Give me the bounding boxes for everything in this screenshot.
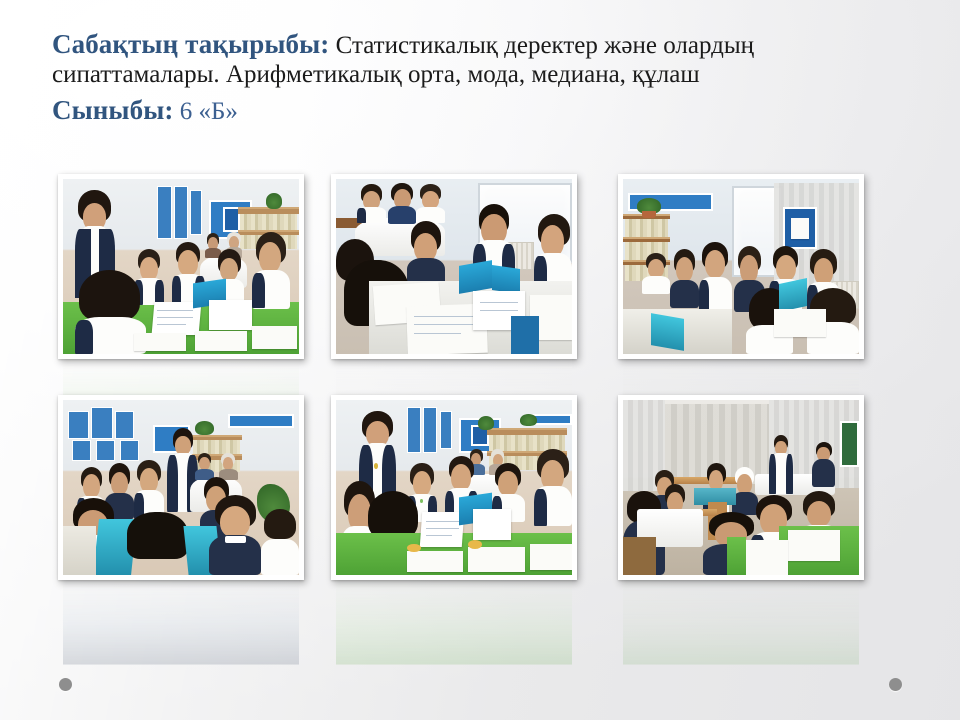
- photo-image-4: [63, 400, 299, 575]
- photo-frame: [58, 174, 304, 359]
- class-line: Сыныбы: 6 «Б»: [52, 94, 932, 128]
- class-value: 6 «Б»: [174, 98, 238, 125]
- photo-reflection: [336, 580, 572, 665]
- photo-image-3: [623, 179, 859, 354]
- gallery-photo-5[interactable]: [331, 395, 577, 580]
- gallery-photo-2[interactable]: [331, 174, 577, 359]
- photo-image-2: [336, 179, 572, 354]
- photo-image-6: [623, 400, 859, 575]
- class-label: Сыныбы:: [52, 95, 174, 125]
- lesson-topic-line: Сабақтың тақырыбы: Статистикалық деректе…: [52, 28, 932, 62]
- lesson-topic-value-part1: Статистикалық деректер және олардың: [329, 32, 754, 59]
- lesson-topic-label: Сабақтың тақырыбы:: [52, 29, 329, 59]
- photo-frame: [618, 395, 864, 580]
- photo-image-1: [63, 179, 299, 354]
- decorative-dot-right: [889, 678, 902, 691]
- photo-reflection: [623, 580, 859, 665]
- decorative-dot-left: [59, 678, 72, 691]
- gallery-photo-4[interactable]: [58, 395, 304, 580]
- photo-gallery-grid: [58, 174, 864, 580]
- gallery-photo-1[interactable]: [58, 174, 304, 359]
- photo-frame: [618, 174, 864, 359]
- gallery-photo-3[interactable]: [618, 174, 864, 359]
- photo-frame: [331, 174, 577, 359]
- photo-reflection: [63, 580, 299, 665]
- photo-frame: [331, 395, 577, 580]
- photo-image-5: [336, 400, 572, 575]
- photo-frame: [58, 395, 304, 580]
- gallery-photo-6[interactable]: [618, 395, 864, 580]
- lesson-topic-value-part2: сипаттамалары. Арифметикалық орта, мода,…: [52, 60, 932, 91]
- slide-title-block: Сабақтың тақырыбы: Статистикалық деректе…: [52, 28, 932, 128]
